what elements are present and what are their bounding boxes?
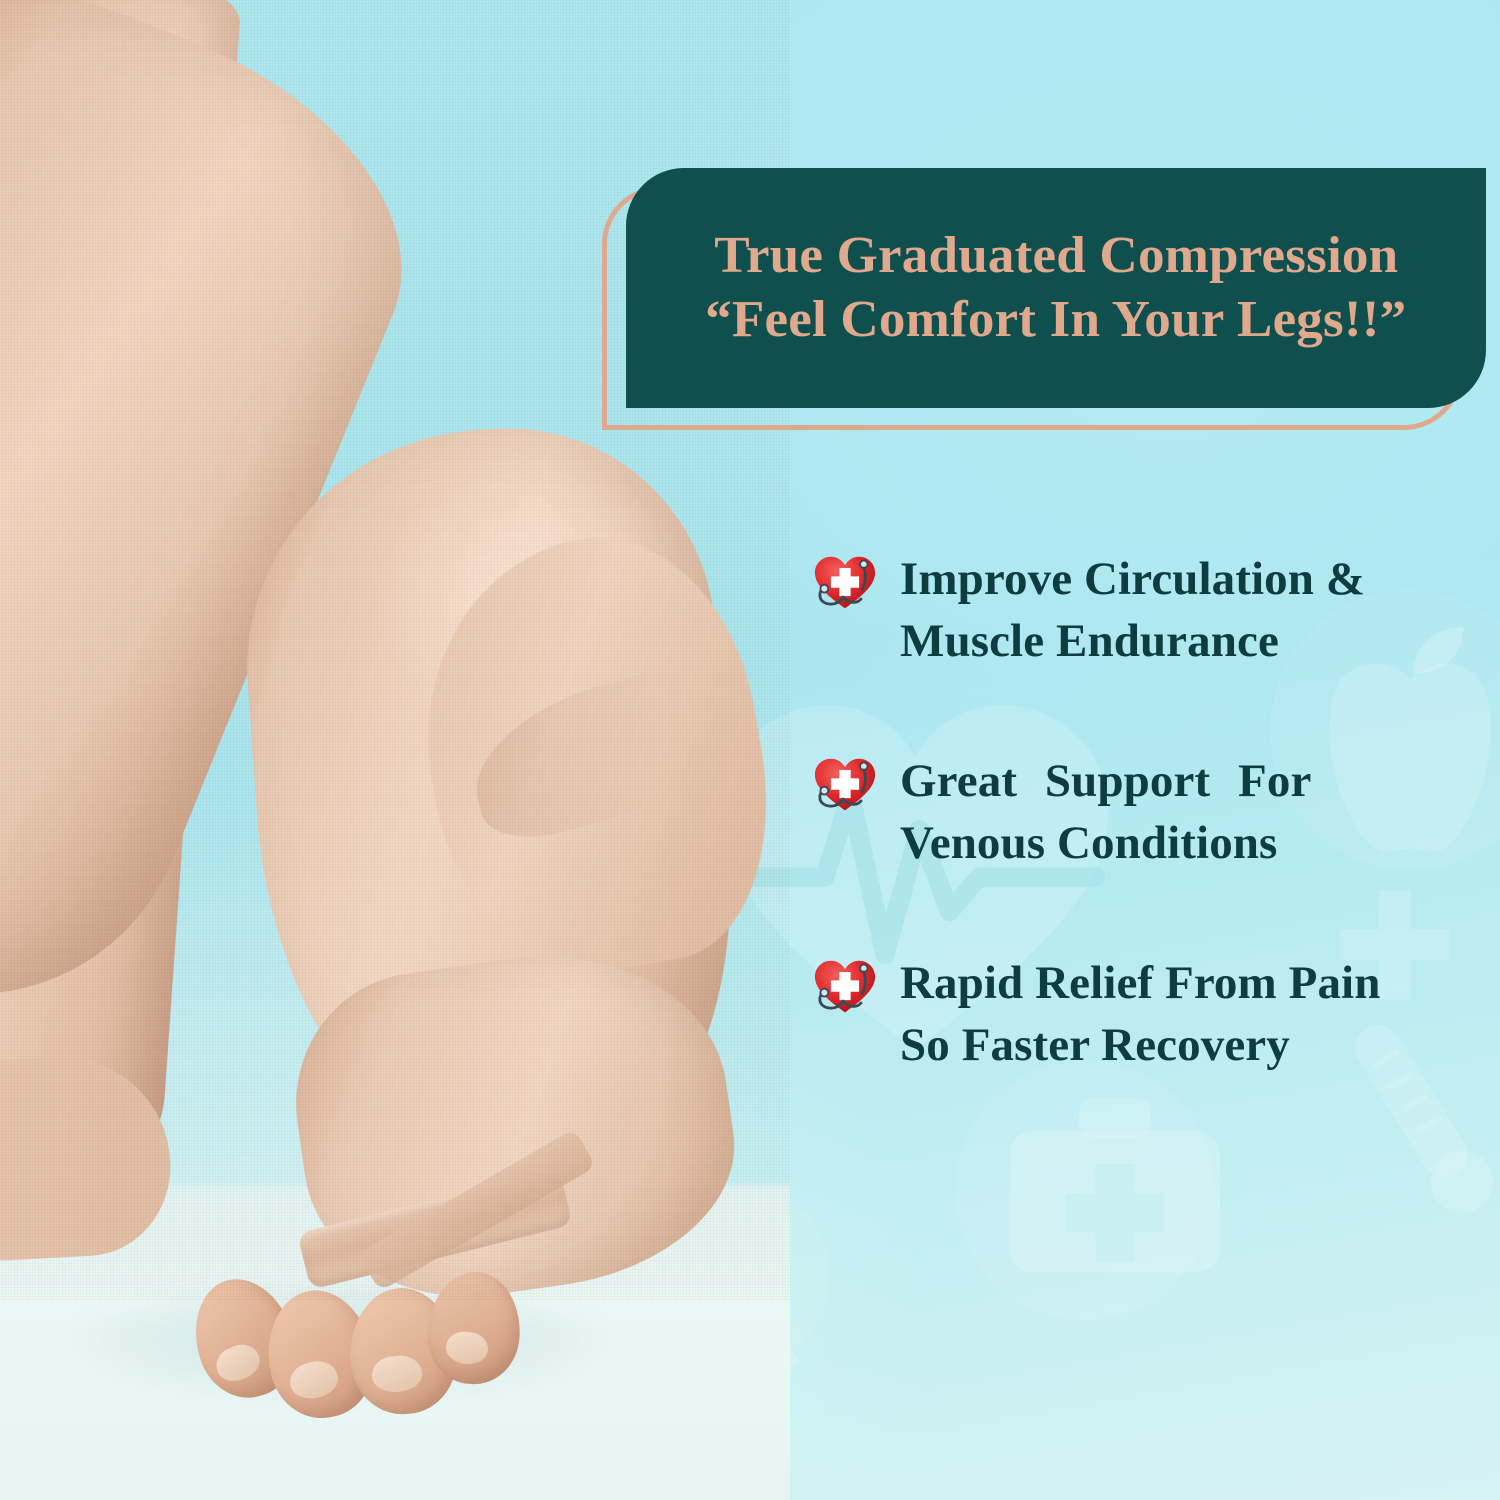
benefit-item: Rapid Relief From Pain So Faster Recover… bbox=[812, 952, 1482, 1076]
poster-canvas: True Graduated Compression “Feel Comfort… bbox=[0, 0, 1500, 1500]
heart-stethoscope-icon bbox=[812, 956, 878, 1018]
benefit-text: Great Support For Venous Conditions bbox=[900, 750, 1311, 874]
headline-banner: True Graduated Compression “Feel Comfort… bbox=[602, 168, 1486, 430]
benefit-text-line1: Improve Circulation & bbox=[900, 553, 1365, 605]
watermark-circle-backdrop bbox=[955, 1060, 1215, 1320]
benefit-text-line2: So Faster Recovery bbox=[900, 1014, 1380, 1076]
heart-stethoscope-icon bbox=[812, 754, 878, 816]
first-aid-kit-icon bbox=[1000, 1085, 1230, 1305]
benefit-text: Rapid Relief From Pain So Faster Recover… bbox=[900, 952, 1380, 1076]
heart-stethoscope-icon bbox=[812, 552, 878, 614]
benefit-text-line2: Venous Conditions bbox=[900, 812, 1311, 874]
benefit-list: Improve Circulation & Muscle Endurance bbox=[812, 548, 1482, 1076]
benefit-text-line2: Muscle Endurance bbox=[900, 610, 1365, 672]
benefit-text-line1: Great Support For bbox=[900, 755, 1311, 807]
benefit-text: Improve Circulation & Muscle Endurance bbox=[900, 548, 1365, 672]
benefit-text-line1: Rapid Relief From Pain bbox=[900, 957, 1380, 1009]
banner-headline-line1: True Graduated Compression bbox=[714, 227, 1398, 285]
banner-headline-line2: “Feel Comfort In Your Legs!!” bbox=[705, 291, 1406, 349]
benefit-item: Great Support For Venous Conditions bbox=[812, 750, 1482, 874]
banner-panel: True Graduated Compression “Feel Comfort… bbox=[626, 168, 1486, 408]
benefit-item: Improve Circulation & Muscle Endurance bbox=[812, 548, 1482, 672]
